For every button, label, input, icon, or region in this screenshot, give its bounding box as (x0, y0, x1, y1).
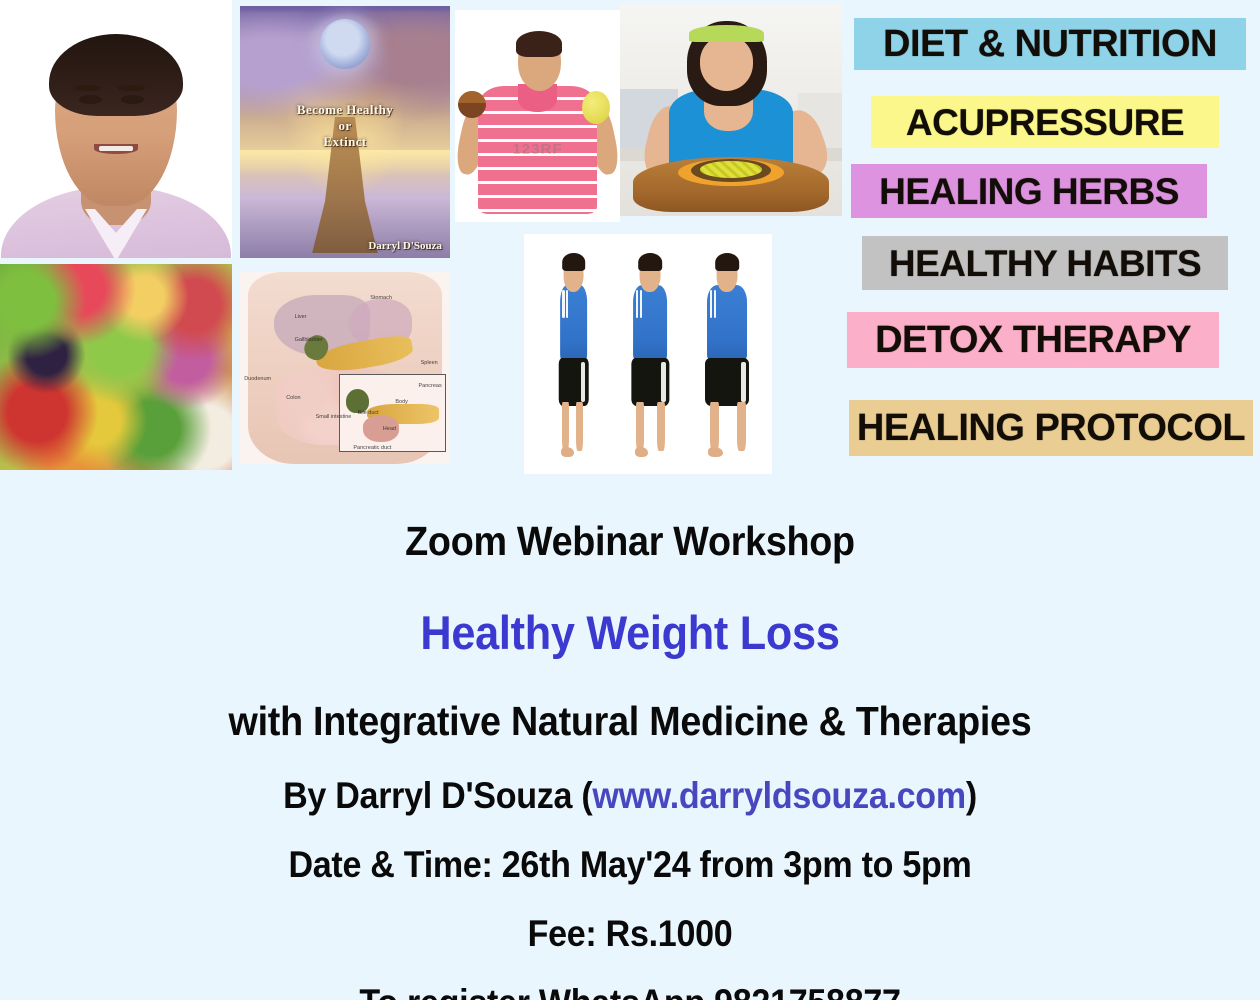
boy-hair (639, 253, 663, 271)
event-details-block: Zoom Webinar Workshop Healthy Weight Los… (0, 490, 1260, 1000)
man-artwork: 123RF (455, 10, 620, 222)
anatomy-label-head: Head (383, 426, 396, 432)
vegetables-artwork (0, 264, 232, 470)
boy-foot (635, 447, 649, 457)
three-boys-weight-photo (524, 234, 772, 474)
boy-leg (576, 402, 583, 450)
boy-hair (562, 253, 586, 271)
flyer-root: Become Healthy or Extinct Darryl D'Souza (0, 0, 1260, 1000)
anatomy-artwork: LiverStomachGallbladderSpleenPancreasDuo… (240, 272, 450, 464)
topic-banner-label: HEALING PROTOCOL (857, 409, 1245, 447)
woman-green-headband (689, 25, 764, 42)
boy-leg (636, 402, 644, 450)
digestive-anatomy-diagram: LiverStomachGallbladderSpleenPancreasDuo… (240, 272, 450, 464)
boy-leg (710, 402, 719, 450)
topic-banner-label: DETOX THERAPY (875, 321, 1191, 359)
book-title-line-3: Extinct (240, 134, 450, 150)
topic-banner-healing-herbs: HEALING HERBS (851, 164, 1207, 218)
boys-artwork (524, 234, 772, 474)
boy-shirt (634, 285, 668, 362)
website-link[interactable]: www.darryldsouza.com (592, 775, 965, 816)
book-title-text: Become Healthy or Extinct (240, 102, 450, 151)
anatomy-label-pancreatic-duct: Pancreatic duct (353, 445, 391, 451)
workshop-subject-line: Healthy Weight Loss (50, 605, 1209, 660)
boy-hair (716, 253, 740, 271)
boy-shirt-stripe (714, 290, 716, 318)
topic-banner-diet-nutrition: DIET & NUTRITION (854, 18, 1246, 70)
anatomy-label-liver: Liver (295, 314, 307, 320)
topic-banner-healthy-habits: HEALTHY HABITS (862, 236, 1228, 290)
man-hair (516, 31, 562, 56)
portrait-teeth (99, 146, 133, 151)
book-cover-artwork: Become Healthy or Extinct Darryl D'Souza (240, 6, 450, 258)
boy-shorts-side-stripe (661, 362, 666, 402)
anatomy-label-small-intestine: Small intestine (316, 414, 352, 420)
boy-shirt-stripe (566, 290, 568, 318)
woman-face (700, 36, 753, 91)
book-moon-orb (320, 19, 370, 69)
book-author-text: Darryl D'Souza (368, 240, 442, 252)
anatomy-label-gallbladder: Gallbladder (295, 337, 323, 343)
vegetables-photo (0, 264, 232, 470)
woman-at-table-photo (620, 4, 842, 216)
anatomy-label-body: Body (395, 399, 408, 405)
book-title-line-2: or (240, 118, 450, 134)
book-cover-image: Become Healthy or Extinct Darryl D'Souza (240, 6, 450, 258)
topic-banner-detox-therapy: DETOX THERAPY (847, 312, 1219, 368)
boy-shirt-stripe (562, 290, 564, 318)
portrait-hair (49, 34, 183, 116)
topic-banner-acupressure: ACUPRESSURE (871, 96, 1219, 148)
topic-banner-label: HEALTHY HABITS (889, 245, 1201, 282)
workshop-approach-line: with Integrative Natural Medicine & Ther… (50, 698, 1209, 745)
boy-shirt-stripe (640, 290, 642, 318)
man-with-food-photo: 123RF (455, 10, 620, 222)
boy-figure-1 (539, 253, 608, 455)
anatomy-label-colon: Colon (286, 395, 300, 401)
topic-banner-label: ACUPRESSURE (906, 104, 1184, 141)
boy-leg (562, 402, 569, 450)
date-time-line: Date & Time: 26th May'24 from 3pm to 5pm (50, 844, 1209, 886)
boy-foot (708, 447, 723, 457)
boy-foot (561, 447, 573, 457)
boy-shirt-stripe (710, 290, 712, 318)
topic-banner-label: DIET & NUTRITION (883, 25, 1217, 63)
topic-banner-label: HEALING HERBS (879, 173, 1179, 210)
boy-shorts-side-stripe (581, 362, 586, 402)
fee-line: Fee: Rs.1000 (50, 913, 1209, 955)
anatomy-label-spleen: Spleen (421, 360, 438, 366)
boy-leg (737, 402, 746, 450)
anatomy-label-pancreas: Pancreas (419, 383, 442, 389)
anatomy-label-bile-duct: Bile duct (358, 410, 379, 416)
boy-leg (657, 402, 665, 450)
anatomy-label-duodenum: Duodenum (244, 376, 271, 382)
measuring-tape-icon (700, 161, 762, 178)
presenter-name-text: By Darryl D'Souza ( (283, 775, 592, 816)
topic-banner-healing-protocol: HEALING PROTOCOL (849, 400, 1253, 456)
presenter-line: By Darryl D'Souza (www.darryldsouza.com) (50, 775, 1209, 817)
presenter-portrait-photo (0, 0, 232, 258)
stock-photo-watermark: 123RF (485, 141, 591, 158)
portrait-eyebrow-right (118, 85, 145, 91)
boy-figure-2 (616, 253, 685, 455)
boy-figure-3 (693, 253, 762, 455)
portrait-eyebrow-left (74, 85, 101, 91)
portrait-artwork (0, 0, 232, 258)
presenter-paren-close: ) (966, 775, 977, 816)
woman-artwork (620, 4, 842, 216)
registration-line: To register WhatsApp 9821758877 (50, 982, 1209, 1000)
anatomy-label-stomach: Stomach (370, 295, 392, 301)
book-title-line-1: Become Healthy (240, 102, 450, 118)
boy-shorts-side-stripe (741, 362, 746, 402)
workshop-type-line: Zoom Webinar Workshop (50, 518, 1209, 565)
